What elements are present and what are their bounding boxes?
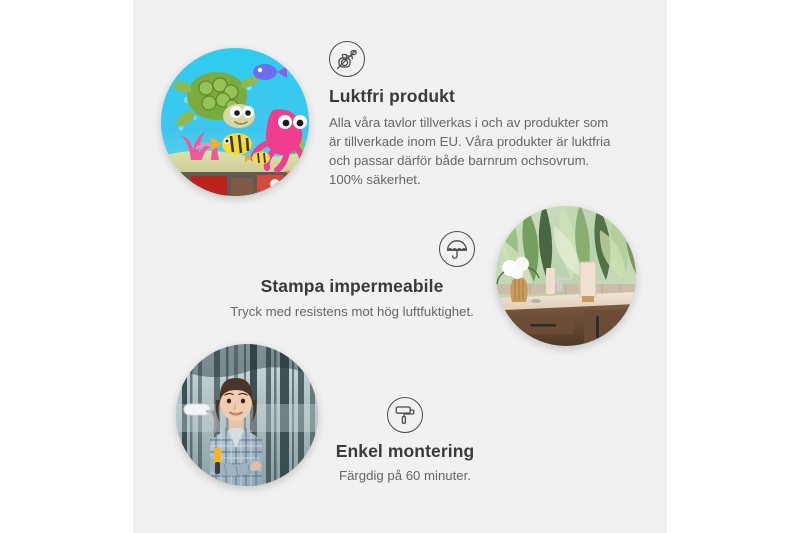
feature-assembly: Enkel montering Färgdig på 60 minuter. [300,397,510,485]
paint-roller-icon [387,397,423,433]
feature-title: Enkel montering [336,441,475,463]
feature-waterproof: Stampa impermeabile Tryck med resistens … [207,231,497,321]
no-perfume-icon [329,41,365,77]
bathroom-mural-art [496,206,636,346]
feature-title: Luktfri produkt [329,86,629,108]
feature-title: Stampa impermeabile [261,276,444,298]
installer-forest-mural-art [176,344,318,486]
promo-banner: Luktfri produkt Alla våra tavlor tillver… [0,0,800,533]
feature-body: Färgdig på 60 minuter. [339,466,471,485]
feature-odourless: Luktfri produkt Alla våra tavlor tillver… [329,41,629,189]
product-photo-underwater-mural[interactable] [161,48,309,196]
product-photo-bathroom-mural[interactable] [496,206,636,346]
product-photo-installer-forest-mural[interactable] [176,344,318,486]
feature-body: Alla våra tavlor tillverkas i och av pro… [329,113,619,190]
umbrella-icon [439,231,475,267]
feature-body: Tryck med resistens mot hög luftfuktighe… [230,302,474,321]
underwater-mural-art [161,48,309,196]
